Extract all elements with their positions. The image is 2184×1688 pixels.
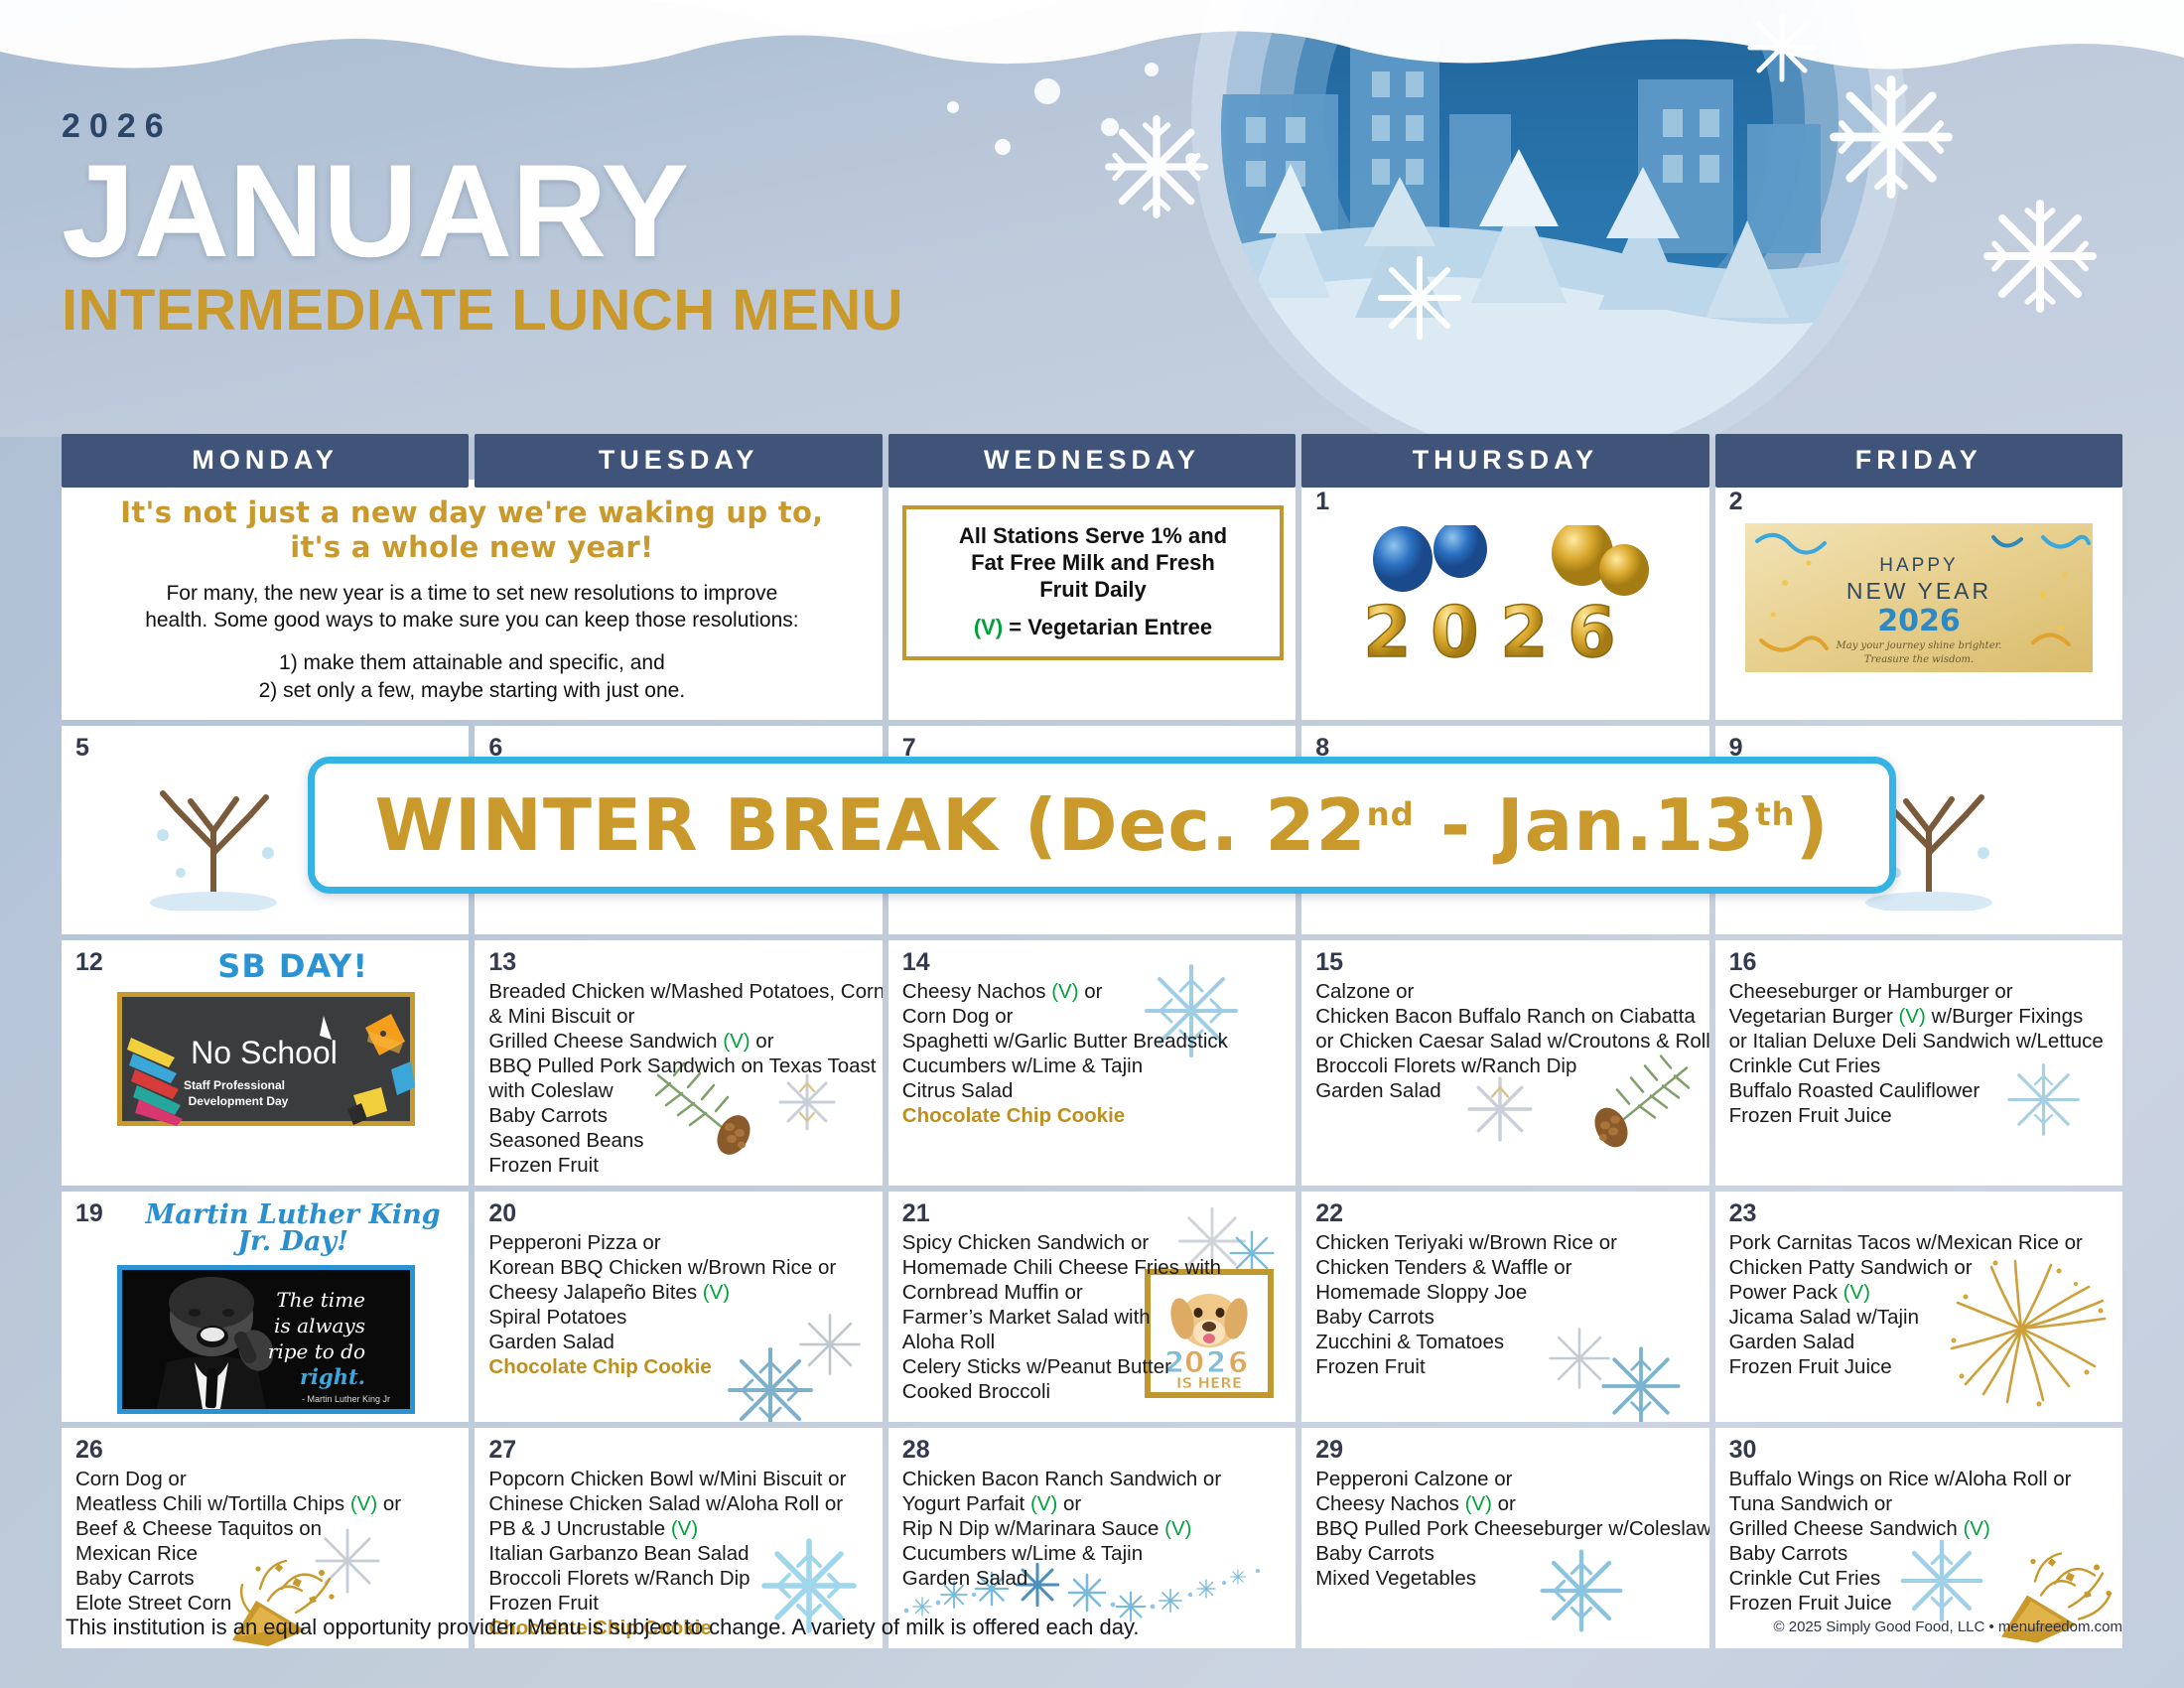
menu-item-line: Spicy Chicken Sandwich or (902, 1230, 1284, 1255)
menu-item-line: Cucumbers w/Lime & Tajin (902, 1054, 1284, 1078)
menu-item-text: Frozen Fruit Juice (1729, 1355, 1892, 1378)
menu-item-line: Garden Salad (488, 1330, 870, 1354)
menu-item-text: Corn Dog or (75, 1468, 187, 1490)
menu-subtitle: INTERMEDIATE LUNCH MENU (62, 282, 903, 340)
menu-item-text: Broccoli Florets w/Ranch Dip (1315, 1055, 1576, 1077)
dow-friday: FRIDAY (1715, 434, 2122, 488)
menu-items: Chicken Bacon Ranch Sandwich orYogurt Pa… (902, 1467, 1284, 1591)
svg-text:0: 0 (1431, 592, 1479, 673)
menu-item-line: Buffalo Roasted Cauliflower (1729, 1078, 2111, 1103)
menu-item-line: Pepperoni Calzone or (1315, 1467, 1697, 1491)
menu-item-line: Meatless Chili w/Tortilla Chips (V) or (75, 1491, 457, 1516)
menu-item-text: Pork Carnitas Tacos w/Mexican Rice or (1729, 1231, 2083, 1254)
menu-item-line: Seasoned Beans (488, 1128, 870, 1153)
menu-item-line: Calzone or (1315, 979, 1697, 1004)
menu-item-text: Cheesy Jalapeño Bites (488, 1281, 702, 1304)
menu-item-text: w/Burger Fixings (1926, 1005, 2083, 1028)
day-number: 14 (902, 950, 1284, 975)
menu-item-line: Chinese Chicken Salad w/Aloha Roll or (488, 1491, 870, 1516)
menu-items: Breaded Chicken w/Mashed Potatoes, Corn&… (488, 979, 870, 1178)
wb-sup-th: th (1755, 795, 1796, 833)
menu-item-line: with Coleslaw (488, 1078, 870, 1103)
info-line-1: All Stations Serve 1% and (924, 523, 1262, 550)
menu-item-text: Chocolate Chip Cookie (902, 1104, 1125, 1127)
menu-item-line: Cornbread Muffin or (902, 1280, 1284, 1305)
menu-item-text: Power Pack (1729, 1281, 1843, 1304)
menu-item-text: Jicama Salad w/Tajin (1729, 1306, 1919, 1329)
day-cell-1[interactable]: 1 2 0 2 6 (1301, 480, 1708, 720)
menu-item-text: Seasoned Beans (488, 1129, 643, 1152)
day-number: 13 (488, 950, 870, 975)
menu-item-text: or (751, 1030, 774, 1053)
menu-item-line: Broccoli Florets w/Ranch Dip (1315, 1054, 1697, 1078)
menu-item-text: Grilled Cheese Sandwich (488, 1030, 723, 1053)
menu-item-text: Calzone or (1315, 980, 1414, 1003)
menu-item-line: Mexican Rice (75, 1541, 457, 1566)
menu-item-line: Frozen Fruit (488, 1153, 870, 1178)
menu-item-text: Garden Salad (1729, 1331, 1855, 1353)
menu-item-text: Baby Carrots (1729, 1542, 1848, 1565)
menu-item-line: Chocolate Chip Cookie (488, 1354, 870, 1379)
menu-item-line: Power Pack (V) (1729, 1280, 2111, 1305)
menu-items: Cheeseburger or Hamburger orVegetarian B… (1729, 979, 2111, 1128)
milk-info-box: All Stations Serve 1% and Fat Free Milk … (902, 505, 1284, 660)
menu-item-text: Chinese Chicken Salad w/Aloha Roll or (488, 1492, 843, 1515)
menu-item-line: Tuna Sandwich or (1729, 1491, 2111, 1516)
veg-marker: (V) (1465, 1492, 1492, 1515)
menu-item-line: Homemade Sloppy Joe (1315, 1280, 1697, 1305)
menu-item-text: or (1057, 1492, 1081, 1515)
svg-text:right.: right. (300, 1364, 365, 1389)
menu-item-line: Frozen Fruit Juice (1729, 1103, 2111, 1128)
menu-item-text: Chicken Patty Sandwich or (1729, 1256, 1973, 1279)
menu-item-line: Baby Carrots (1729, 1541, 2111, 1566)
veg-marker: (V) (1164, 1517, 1191, 1540)
menu-item-line: Frozen Fruit (1315, 1354, 1697, 1379)
menu-item-text: Frozen Fruit (488, 1154, 599, 1177)
sb-day-title: SB DAY! (103, 950, 458, 982)
svg-text:Development Day: Development Day (189, 1094, 289, 1108)
menu-item-line: Beef & Cheese Taquitos on (75, 1516, 457, 1541)
menu-item-text: Frozen Fruit (1315, 1355, 1426, 1378)
menu-item-line: Pepperoni Pizza or (488, 1230, 870, 1255)
veg-marker: (V) (1030, 1492, 1057, 1515)
menu-item-text: Chocolate Chip Cookie (488, 1355, 711, 1378)
footer-credit: © 2025 Simply Good Food, LLC • menufreed… (1774, 1618, 2122, 1635)
menu-item-text: Chicken Bacon Ranch Sandwich or (902, 1468, 1221, 1490)
bare-tree-snow-icon (119, 762, 308, 911)
menu-item-text: Beef & Cheese Taquitos on (75, 1517, 322, 1540)
menu-item-text: Cheeseburger or Hamburger or (1729, 980, 2013, 1003)
menu-item-line: Chicken Teriyaki w/Brown Rice or (1315, 1230, 1697, 1255)
menu-item-line: Chocolate Chip Cookie (902, 1103, 1284, 1128)
menu-item-line: or Chicken Caesar Salad w/Croutons & Rol… (1315, 1029, 1697, 1054)
svg-text:The time: The time (277, 1288, 366, 1312)
menu-item-text: Frozen Fruit Juice (1729, 1104, 1892, 1127)
menu-item-line: Cheesy Jalapeño Bites (V) (488, 1280, 870, 1305)
day-number: 15 (1315, 950, 1697, 975)
menu-item-text: Pepperoni Calzone or (1315, 1468, 1512, 1490)
menu-item-line: Grilled Cheese Sandwich (V) or (488, 1029, 870, 1054)
day-cell-16[interactable]: 16 Cheeseburger or Hamburger orVegetaria… (1715, 940, 2122, 1186)
menu-item-line: Italian Garbanzo Bean Salad (488, 1541, 870, 1566)
menu-items: Calzone orChicken Bacon Buffalo Ranch on… (1315, 979, 1697, 1103)
wb-main: WINTER BREAK (Dec. 22 (374, 783, 1366, 867)
menu-item-text: Tuna Sandwich or (1729, 1492, 1892, 1515)
winter-break-banner: WINTER BREAK (Dec. 22nd - Jan.13th) (308, 757, 1896, 894)
menu-item-text: Broccoli Florets w/Ranch Dip (488, 1567, 750, 1590)
menu-item-text: or Italian Deluxe Deli Sandwich w/Lettuc… (1729, 1030, 2104, 1053)
intro-body-2: health. Some good ways to make sure you … (81, 607, 863, 633)
menu-item-text: Vegetarian Burger (1729, 1005, 1899, 1028)
menu-item-text: BBQ Pulled Pork Cheeseburger w/Coleslaw (1315, 1517, 1708, 1540)
menu-item-text: Garden Salad (902, 1567, 1028, 1590)
menu-item-text: Spiral Potatoes (488, 1306, 626, 1329)
menu-item-text: Grilled Cheese Sandwich (1729, 1517, 1964, 1540)
day-number: 23 (1729, 1201, 2111, 1226)
calendar-grid: It's not just a new day we're waking up … (62, 480, 2122, 1648)
menu-item-line: Spiral Potatoes (488, 1305, 870, 1330)
day-number: 16 (1729, 950, 2111, 975)
menu-item-text: Homemade Sloppy Joe (1315, 1281, 1527, 1304)
wb-sup-nd: nd (1367, 795, 1415, 833)
menu-item-text: Cucumbers w/Lime & Tajin (902, 1055, 1143, 1077)
day-number: 26 (75, 1438, 457, 1463)
menu-item-text: Chicken Teriyaki w/Brown Rice or (1315, 1231, 1617, 1254)
day-number: 27 (488, 1438, 870, 1463)
veg-marker: (V) (350, 1492, 377, 1515)
menu-item-line: BBQ Pulled Pork Cheeseburger w/Coleslaw (1315, 1516, 1697, 1541)
svg-text:- Martin Luther King Jr: - Martin Luther King Jr (302, 1394, 390, 1404)
menu-item-text: Buffalo Roasted Cauliflower (1729, 1079, 1980, 1102)
day-cell-14[interactable]: 14 Cheesy Nachos (V) orCorn Dog orSpaghe… (888, 940, 1296, 1186)
menu-item-line: Chicken Bacon Ranch Sandwich or (902, 1467, 1284, 1491)
veg-marker: (V) (703, 1281, 730, 1304)
menu-items: Corn Dog orMeatless Chili w/Tortilla Chi… (75, 1467, 457, 1616)
menu-item-text: Pepperoni Pizza or (488, 1231, 660, 1254)
menu-item-line: Corn Dog or (75, 1467, 457, 1491)
svg-text:NEW YEAR: NEW YEAR (1846, 578, 1991, 604)
menu-item-text: PB & J Uncrustable (488, 1517, 670, 1540)
menu-item-text: or Chicken Caesar Salad w/Croutons & Rol… (1315, 1030, 1708, 1053)
svg-text:Treasure the wisdom.: Treasure the wisdom. (1864, 654, 1974, 665)
menu-items: Pepperoni Calzone orCheesy Nachos (V) or… (1315, 1467, 1697, 1591)
menu-item-line: Baby Carrots (1315, 1305, 1697, 1330)
menu-item-line: Homemade Chili Cheese Fries with (902, 1255, 1284, 1280)
menu-item-text: Zucchini & Tomatoes (1315, 1331, 1504, 1353)
menu-item-line: Garden Salad (1315, 1078, 1697, 1103)
menu-item-text: Cornbread Muffin or (902, 1281, 1083, 1304)
menu-item-line: & Mini Biscuit or (488, 1004, 870, 1029)
footer-bar: This institution is an equal opportunity… (0, 1605, 2184, 1688)
svg-text:2026: 2026 (1877, 604, 1961, 638)
menu-item-line: Crinkle Cut Fries (1729, 1566, 2111, 1591)
veg-marker: (V) (723, 1030, 750, 1053)
menu-item-text: Baby Carrots (1315, 1542, 1434, 1565)
menu-item-line: Broccoli Florets w/Ranch Dip (488, 1566, 870, 1591)
menu-item-text: Cheesy Nachos (1315, 1492, 1464, 1515)
day-cell-19[interactable]: 19 Martin Luther King Jr. Day! The time (62, 1192, 469, 1422)
svg-text:2: 2 (1363, 592, 1412, 673)
menu-item-line: Cucumbers w/Lime & Tajin (902, 1541, 1284, 1566)
happy-new-year-banner-art: HAPPY NEW YEAR 2026 May your journey shi… (1745, 523, 2093, 677)
menu-item-line: Grilled Cheese Sandwich (V) (1729, 1516, 2111, 1541)
day-cell-22[interactable]: 22 Chicken Teriyaki w/Brown Rice orChick… (1301, 1192, 1708, 1422)
menu-item-line: Citrus Salad (902, 1078, 1284, 1103)
footer-disclaimer: This institution is an equal opportunity… (66, 1615, 1139, 1640)
menu-item-text: Buffalo Wings on Rice w/Aloha Roll or (1729, 1468, 2072, 1490)
menu-item-text: Crinkle Cut Fries (1729, 1567, 1881, 1590)
svg-text:6: 6 (1568, 592, 1616, 673)
menu-item-text: or (1492, 1492, 1516, 1515)
day-number: 20 (488, 1201, 870, 1226)
menu-item-line: Aloha Roll (902, 1330, 1284, 1354)
menu-item-line: Popcorn Chicken Bowl w/Mini Biscuit or (488, 1467, 870, 1491)
wb-end: ) (1796, 783, 1830, 867)
veg-marker: (V) (1843, 1281, 1870, 1304)
menu-item-text: Rip N Dip w/Marinara Sauce (902, 1517, 1164, 1540)
day-number: 19 (75, 1201, 103, 1226)
menu-items: Pork Carnitas Tacos w/Mexican Rice orChi… (1729, 1230, 2111, 1379)
menu-item-text: Spicy Chicken Sandwich or (902, 1231, 1149, 1254)
menu-items: Buffalo Wings on Rice w/Aloha Roll orTun… (1729, 1467, 2111, 1616)
veg-marker: (V) (1963, 1517, 1989, 1540)
menu-item-text: Chicken Bacon Buffalo Ranch on Ciabatta (1315, 1005, 1696, 1028)
veg-legend-text: = Vegetarian Entree (1003, 615, 1212, 639)
intro-body-1: For many, the new year is a time to set … (81, 580, 863, 607)
day-cell-15[interactable]: 15 Calzone orChicken Bacon Buffalo Ranch… (1301, 940, 1708, 1186)
day-number: 12 (75, 950, 103, 975)
day-cell-21[interactable]: 21 Spicy Chicken Sandwich orHomemade Chi… (888, 1192, 1296, 1422)
menu-item-text: Mixed Vegetables (1315, 1567, 1476, 1590)
menu-item-line: Celery Sticks w/Peanut Butter (902, 1354, 1284, 1379)
menu-item-text: Homemade Chili Cheese Fries with (902, 1256, 1221, 1279)
day-number: 28 (902, 1438, 1284, 1463)
dow-monday: MONDAY (62, 434, 469, 488)
menu-item-text: Farmer’s Market Salad with (902, 1306, 1151, 1329)
menu-item-line: Crinkle Cut Fries (1729, 1054, 2111, 1078)
veg-marker: (V) (974, 615, 1003, 639)
day-cell-12[interactable]: 12 SB DAY! No School Sta (62, 940, 469, 1186)
menu-item-text: Italian Garbanzo Bean Salad (488, 1542, 749, 1565)
menu-item-line: Baby Carrots (488, 1103, 870, 1128)
menu-item-text: Yogurt Parfait (902, 1492, 1030, 1515)
menu-item-line: Rip N Dip w/Marinara Sauce (V) (902, 1516, 1284, 1541)
intro-list-1: 1) make them attainable and specific, an… (81, 649, 863, 676)
veg-marker: (V) (1899, 1005, 1926, 1028)
menu-item-line: Garden Salad (1729, 1330, 2111, 1354)
day-cell-23[interactable]: 23 Pork Carnitas Tacos w/Mexican Rice or… (1715, 1192, 2122, 1422)
menu-items: Spicy Chicken Sandwich orHomemade Chili … (902, 1230, 1284, 1404)
dow-tuesday: TUESDAY (475, 434, 882, 488)
svg-text:HAPPY: HAPPY (1879, 555, 1958, 576)
menu-item-line: Chicken Tenders & Waffle or (1315, 1255, 1697, 1280)
day-cell-20[interactable]: 20 Pepperoni Pizza orKorean BBQ Chicken … (475, 1192, 882, 1422)
menu-item-line: Cheeseburger or Hamburger or (1729, 979, 2111, 1004)
menu-item-text: & Mini Biscuit or (488, 1005, 634, 1028)
menu-item-line: Cooked Broccoli (902, 1379, 1284, 1404)
menu-item-text: Chicken Tenders & Waffle or (1315, 1256, 1571, 1279)
svg-text:Staff Professional: Staff Professional (184, 1078, 285, 1092)
svg-text:is always: is always (274, 1314, 365, 1337)
menu-item-text: Popcorn Chicken Bowl w/Mini Biscuit or (488, 1468, 846, 1490)
menu-item-line: BBQ Pulled Pork Sandwich on Texas Toast (488, 1054, 870, 1078)
day-number: 30 (1729, 1438, 2111, 1463)
menu-item-line: Spaghetti w/Garlic Butter Breadstick (902, 1029, 1284, 1054)
svg-text:No School: No School (191, 1035, 338, 1070)
day-number: 21 (902, 1201, 1284, 1226)
menu-item-line: Cheesy Nachos (V) or (1315, 1491, 1697, 1516)
info-line-3: Fruit Daily (924, 577, 1262, 604)
month-title: JANUARY (62, 147, 903, 276)
calendar-title-block: 2026 JANUARY INTERMEDIATE LUNCH MENU (62, 109, 903, 340)
mlk-day-title: Martin Luther King Jr. Day! (103, 1201, 458, 1255)
menu-item-text: with Coleslaw (488, 1079, 613, 1102)
menu-items: Pepperoni Pizza orKorean BBQ Chicken w/B… (488, 1230, 870, 1379)
menu-item-text: Cheesy Nachos (902, 980, 1051, 1003)
day-number: 2 (1729, 490, 2111, 514)
day-number: 1 (1315, 490, 1697, 514)
menu-item-text: Aloha Roll (902, 1331, 995, 1353)
intro-list-2: 2) set only a few, maybe starting with j… (81, 677, 863, 704)
menu-item-line: Chicken Bacon Buffalo Ranch on Ciabatta (1315, 1004, 1697, 1029)
menu-item-text: Cucumbers w/Lime & Tajin (902, 1542, 1143, 1565)
balloons-2026-art: 2 0 2 6 (1341, 525, 1669, 684)
menu-item-line: Garden Salad (902, 1566, 1284, 1591)
svg-text:2: 2 (1500, 592, 1549, 673)
menu-item-line: Corn Dog or (902, 1004, 1284, 1029)
menu-item-text: or (377, 1492, 401, 1515)
menu-item-line: Chicken Patty Sandwich or (1729, 1255, 2111, 1280)
svg-text:ripe to do: ripe to do (268, 1339, 365, 1363)
menu-item-line: or Italian Deluxe Deli Sandwich w/Lettuc… (1729, 1029, 2111, 1054)
veg-legend: (V) = Vegetarian Entree (924, 615, 1262, 640)
intro-headline-1: It's not just a new day we're waking up … (81, 495, 863, 530)
menu-item-text: Celery Sticks w/Peanut Butter (902, 1355, 1171, 1378)
menu-item-line: Frozen Fruit Juice (1729, 1354, 2111, 1379)
menu-item-line: Mixed Vegetables (1315, 1566, 1697, 1591)
menu-item-line: Yogurt Parfait (V) or (902, 1491, 1284, 1516)
menu-item-line: Breaded Chicken w/Mashed Potatoes, Corn (488, 979, 870, 1004)
menu-item-text: Baby Carrots (75, 1567, 195, 1590)
menu-item-line: Vegetarian Burger (V) w/Burger Fixings (1729, 1004, 2111, 1029)
menu-item-text: Corn Dog or (902, 1005, 1014, 1028)
menu-item-line: Pork Carnitas Tacos w/Mexican Rice or (1729, 1230, 2111, 1255)
menu-item-text: Garden Salad (1315, 1079, 1441, 1102)
day-of-week-header-row: MONDAY TUESDAY WEDNESDAY THURSDAY FRIDAY (62, 434, 2122, 488)
menu-item-line: Baby Carrots (75, 1566, 457, 1591)
menu-item-line: Zucchini & Tomatoes (1315, 1330, 1697, 1354)
menu-item-text: Baby Carrots (1315, 1306, 1434, 1329)
menu-item-line: Korean BBQ Chicken w/Brown Rice or (488, 1255, 870, 1280)
menu-item-text: Breaded Chicken w/Mashed Potatoes, Corn (488, 980, 882, 1003)
svg-text:May your journey shine brighte: May your journey shine brighter. (1835, 640, 2001, 651)
info-box-cell: All Stations Serve 1% and Fat Free Milk … (888, 480, 1296, 720)
mlk-quote-image: The time is always ripe to do right. - M… (117, 1265, 415, 1414)
menu-item-line: Farmer’s Market Salad with (902, 1305, 1284, 1330)
veg-marker: (V) (1051, 980, 1078, 1003)
veg-marker: (V) (671, 1517, 698, 1540)
menu-item-text: Baby Carrots (488, 1104, 608, 1127)
wb-mid: - Jan.13 (1415, 783, 1755, 867)
day-number: 29 (1315, 1438, 1697, 1463)
menu-items: Chicken Teriyaki w/Brown Rice orChicken … (1315, 1230, 1697, 1379)
menu-item-text: Cooked Broccoli (902, 1380, 1050, 1403)
menu-item-text: Korean BBQ Chicken w/Brown Rice or (488, 1256, 836, 1279)
menu-item-line: Jicama Salad w/Tajin (1729, 1305, 2111, 1330)
intro-headline-2: it's a whole new year! (81, 530, 863, 565)
menu-item-line: PB & J Uncrustable (V) (488, 1516, 870, 1541)
menu-item-text: Crinkle Cut Fries (1729, 1055, 1881, 1077)
menu-item-text: or (1079, 980, 1103, 1003)
menu-items: Cheesy Nachos (V) orCorn Dog orSpaghetti… (902, 979, 1284, 1128)
menu-item-line: Baby Carrots (1315, 1541, 1697, 1566)
new-year-intro-cell: It's not just a new day we're waking up … (62, 480, 883, 720)
menu-item-text: Meatless Chili w/Tortilla Chips (75, 1492, 350, 1515)
winter-break-text: WINTER BREAK (Dec. 22nd - Jan.13th) (374, 783, 1829, 867)
menu-item-line: Buffalo Wings on Rice w/Aloha Roll or (1729, 1467, 2111, 1491)
no-school-chalkboard-image: No School Staff Professional Development… (117, 992, 415, 1126)
day-number: 22 (1315, 1201, 1697, 1226)
menu-item-text: BBQ Pulled Pork Sandwich on Texas Toast (488, 1055, 876, 1077)
dow-thursday: THURSDAY (1301, 434, 1708, 488)
menu-item-line: Cheesy Nachos (V) or (902, 979, 1284, 1004)
menu-item-text: Spaghetti w/Garlic Butter Breadstick (902, 1030, 1228, 1053)
menu-item-text: Citrus Salad (902, 1079, 1014, 1102)
menu-item-text: Garden Salad (488, 1331, 614, 1353)
dow-wednesday: WEDNESDAY (888, 434, 1296, 488)
menu-item-text: Mexican Rice (75, 1542, 198, 1565)
info-line-2: Fat Free Milk and Fresh (924, 550, 1262, 577)
day-cell-2[interactable]: 2 (1715, 480, 2122, 720)
day-cell-13[interactable]: 13 Breaded Chicken w/Mashed Potatoes, Co… (475, 940, 882, 1186)
